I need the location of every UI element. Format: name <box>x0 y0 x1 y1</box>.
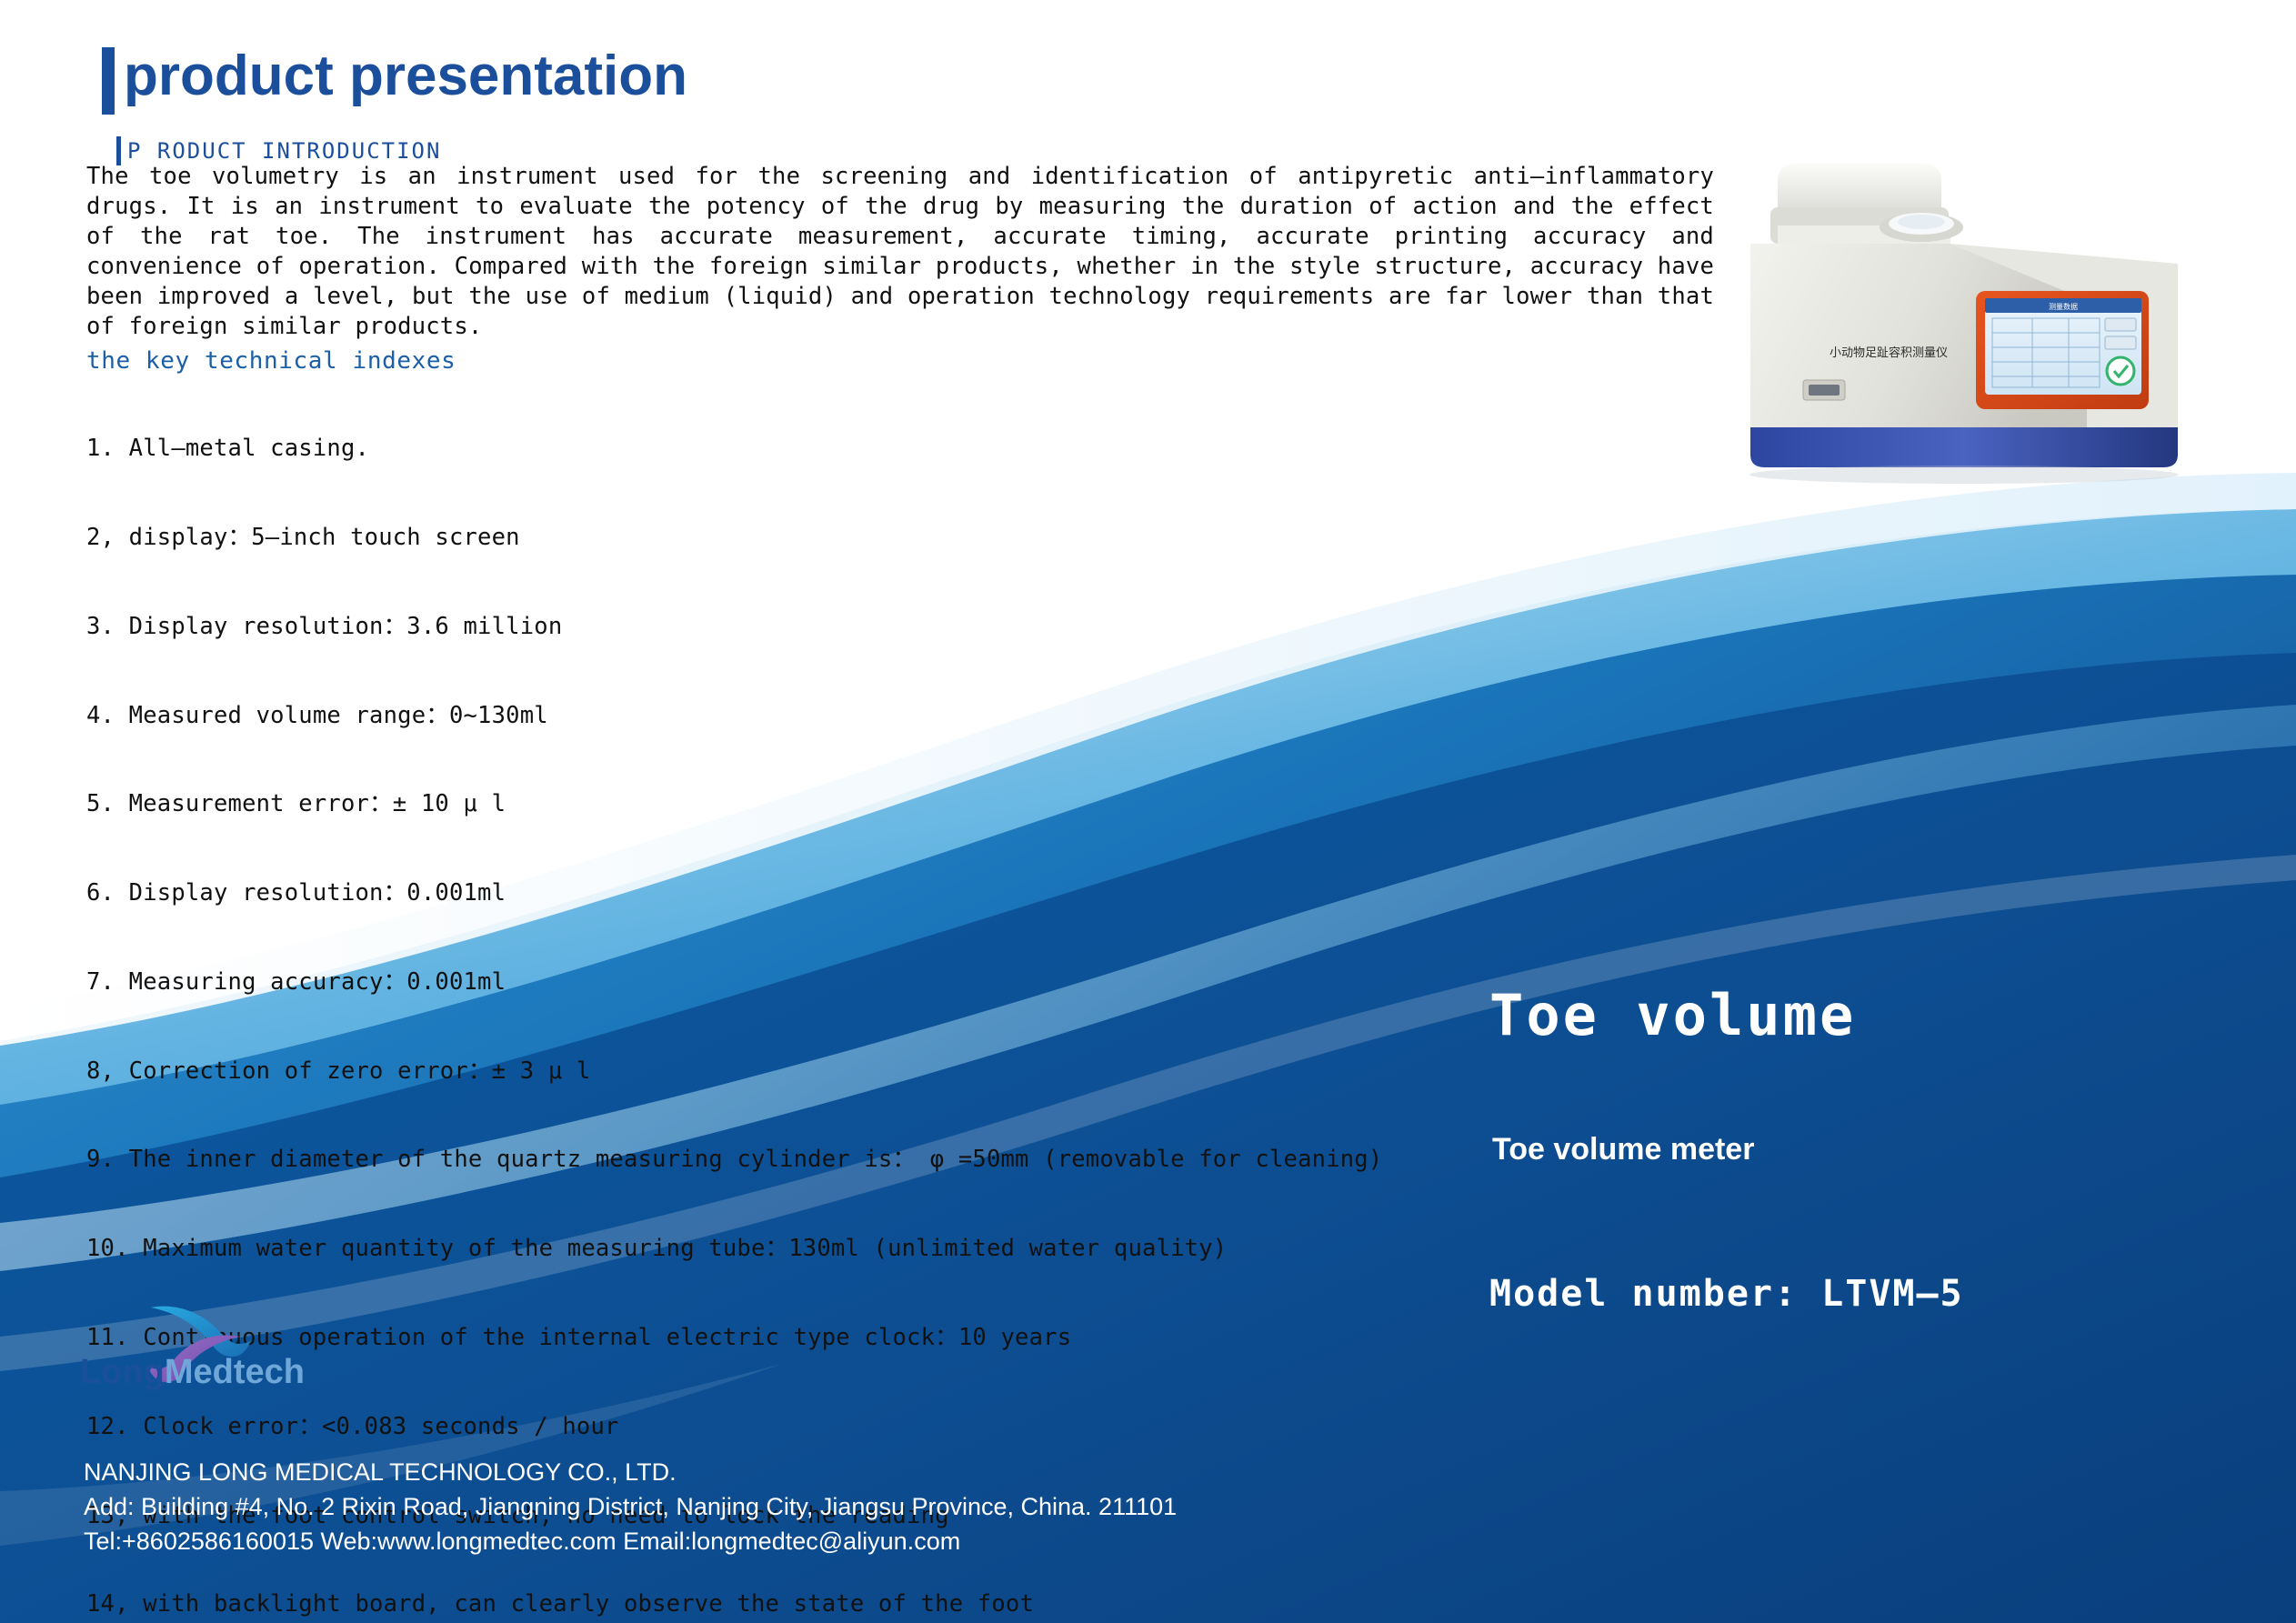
logo-text-long: Long <box>80 1353 165 1391</box>
spec-item: 2, display：5—inch touch screen <box>86 523 1505 553</box>
device-label: 小动物足趾容积测量仪 <box>1830 346 1948 360</box>
spec-list: 1. All—metal casing. 2, display：5—inch t… <box>86 375 1505 1623</box>
spec-item: 7. Measuring accuracy：0.001ml <box>86 967 1505 997</box>
page-title: product presentation <box>124 44 687 108</box>
footer-company: NANJING LONG MEDICAL TECHNOLOGY CO., LTD… <box>84 1455 1539 1489</box>
product-name: Toe volume <box>1489 982 1856 1048</box>
spec-item: 9. The inner diameter of the quartz meas… <box>86 1145 1505 1175</box>
spec-item: 14, with backlight board, can clearly ob… <box>86 1589 1505 1619</box>
footer: NANJING LONG MEDICAL TECHNOLOGY CO., LTD… <box>84 1455 1539 1558</box>
spec-item: 10. Maximum water quantity of the measur… <box>86 1234 1505 1264</box>
spec-item: 4. Measured volume range：0~130ml <box>86 701 1505 731</box>
brochure-page: product presentation P RODUCT INTRODUCTI… <box>0 0 2296 1623</box>
spec-item: 1. All—metal casing. <box>86 434 1505 464</box>
svg-text:测量数据: 测量数据 <box>2049 302 2078 311</box>
logo-text-medtech: Medtech <box>165 1353 305 1391</box>
title-accent-bar <box>102 47 115 115</box>
spec-item: 6. Display resolution：0.001ml <box>86 878 1505 908</box>
footer-contact: Tel:+8602586160015 Web:www.longmedtec.co… <box>84 1524 1539 1558</box>
intro-paragraph: The toe volumetry is an instrument used … <box>86 162 1714 342</box>
device-base <box>1750 427 2178 467</box>
product-model: Model number: LTVM—5 <box>1489 1273 1964 1315</box>
spec-list-heading: the key technical indexes <box>86 347 456 375</box>
company-logo-text: LongMedtech <box>80 1353 305 1392</box>
spec-item: 3. Display resolution：3.6 million <box>86 612 1505 642</box>
spec-item: 12. Clock error：<0.083 seconds / hour <box>86 1412 1505 1442</box>
spec-item: 5. Measurement error：± 10 μ l <box>86 789 1505 819</box>
product-description: Toe volume meter <box>1492 1132 1754 1167</box>
page-subtitle: P RODUCT INTRODUCTION <box>127 138 441 164</box>
product-photo: 测量数据 小动物足趾容积测量仪 <box>1723 155 2205 546</box>
device-lid <box>1778 164 1941 209</box>
spec-item: 8, Correction of zero error：± 3 μ l <box>86 1057 1505 1087</box>
footer-address: Add: Building #4, No. 2 Rixin Road, Jian… <box>84 1489 1539 1524</box>
